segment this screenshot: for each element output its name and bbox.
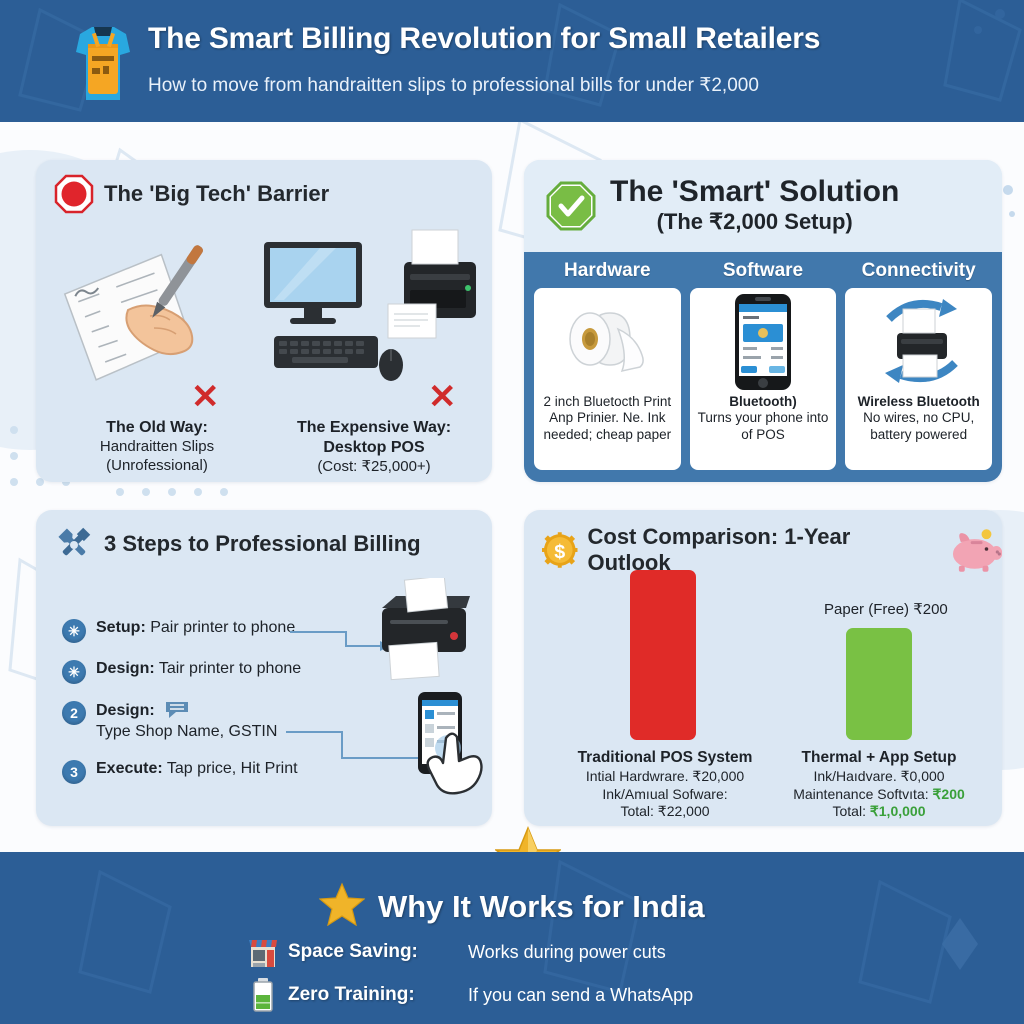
solution-col-head-1: Software: [690, 258, 837, 288]
wireless-printer-sync-icon: [859, 297, 979, 387]
solution-header: The 'Smart' Solution (The ₹2,000 Setup): [524, 160, 1002, 252]
page-subtitle: How to move from handraitten slips to pr…: [148, 74, 1008, 97]
barrier-caption-1-line1: Desktop POS: [266, 438, 482, 458]
card-three-steps: 3 Steps to Professional Billing ✳ Setup:…: [36, 510, 492, 826]
cost-name-0: Traditional POS System: [562, 748, 768, 767]
step-text-1: Design: Tair printer to phone: [96, 659, 301, 680]
solution-caption-software-text: Turns your phone into of POS: [698, 410, 829, 441]
bar-traditional-pos: [630, 570, 696, 740]
solution-column-hardware: Hardware 2 inch Bluetocth Print Anp Prin…: [534, 258, 681, 470]
page-title: The Smart Billing Revolution for Small R…: [148, 22, 978, 56]
footer-row-1: Zero Training: If you can send a WhatsAp…: [248, 978, 888, 1012]
solution-subtitle: (The ₹2,000 Setup): [610, 209, 899, 235]
footer-rows: Space Saving: Works during power cuts Ze…: [248, 936, 888, 1022]
page-footer: Why It Works for India Space Saving: Wor…: [0, 852, 1024, 1024]
step-value-0: Pair printer to phone: [150, 619, 295, 636]
solution-caption-connectivity: Wireless Bluetooth No wires, no CPU, bat…: [849, 394, 988, 443]
cost-line-1-2-label: Total:: [833, 803, 870, 819]
solution-col-head-2: Connectivity: [845, 258, 992, 288]
gold-star-icon: [319, 882, 365, 926]
barrier-caption-1-line2: (Cost: ₹25,000+): [266, 458, 482, 477]
step-sub-2: Type Shop Name, GSTIN: [96, 722, 277, 743]
wrench-screwdriver-icon: [54, 524, 94, 564]
shop-storefront-icon: [248, 936, 278, 968]
barrier-caption-0-line2: (Unrofessional): [54, 457, 260, 476]
apron-tshirt-icon: [70, 22, 136, 104]
solution-columns: Hardware 2 inch Bluetocth Print Anp Prin…: [524, 252, 1002, 482]
chart-annotation-paper: Paper (Free) ₹200: [824, 600, 948, 618]
card-big-tech-barrier: The 'Big Tech' Barrier: [36, 160, 492, 482]
step-label-1: Design:: [96, 660, 155, 677]
step-line-2: Design:: [96, 700, 277, 722]
barrier-title: The 'Big Tech' Barrier: [104, 181, 329, 207]
barrier-caption-1: The Expensive Way: Desktop POS (Cost: ₹2…: [266, 418, 482, 477]
solution-caption-software: Bluetooth) Turns your phone into of POS: [694, 394, 833, 443]
footer-value-1: If you can send a WhatsApp: [468, 985, 693, 1006]
cost-line-0-0: Intial Hardwrare. ₹20,000: [562, 768, 768, 786]
bluetooth-icon: ✳: [62, 619, 86, 643]
steps-title: 3 Steps to Professional Billing: [104, 531, 421, 557]
bar-thermal-app: [846, 628, 912, 740]
cost-line-1-1-label: Maintenance Softvıta:: [793, 786, 932, 802]
solution-col-head-0: Hardware: [534, 258, 681, 288]
step-text-2: Design: Type Shop Name, GSTIN: [96, 700, 277, 743]
step-label-2: Design:: [96, 702, 155, 719]
software-art: [733, 296, 793, 388]
steps-title-row: 3 Steps to Professional Billing: [54, 524, 421, 564]
cost-line-1-1: Maintenance Softvıta: ₹200: [774, 786, 984, 804]
footer-title: Why It Works for India: [0, 882, 1024, 926]
solution-box-software: Bluetooth) Turns your phone into of POS: [690, 288, 837, 470]
solution-column-connectivity: Connectivity: [845, 258, 992, 470]
hardware-art: [552, 296, 662, 388]
cost-line-1-2-value: ₹1,0,000: [870, 803, 926, 819]
footer-title-text: Why It Works for India: [378, 889, 705, 924]
footer-row-0: Space Saving: Works during power cuts: [248, 936, 888, 968]
solution-box-connectivity: Wireless Bluetooth No wires, no CPU, bat…: [845, 288, 992, 470]
cost-column-traditional: Traditional POS System Intial Hardwrare.…: [562, 748, 768, 821]
step-text-3: Execute: Tap price, Hit Print: [96, 759, 298, 780]
cost-line-0-2: Total: ₹22,000: [562, 803, 768, 821]
infographic-page: The Smart Billing Revolution for Small R…: [0, 0, 1024, 1024]
solution-caption-software-bold: Bluetooth): [729, 394, 796, 409]
cost-column-thermal: Thermal + App Setup Ink/Haıdvare. ₹0,000…: [774, 748, 984, 821]
smartphone-billing-app-icon: [733, 292, 793, 392]
bluetooth-icon: ✳: [62, 660, 86, 684]
phone-tap-hand-illustration: [402, 690, 492, 805]
solution-column-software: Software: [690, 258, 837, 470]
hand-writing-slip-illustration: [56, 238, 246, 393]
number-3-icon: 3: [62, 760, 86, 784]
page-header: The Smart Billing Revolution for Small R…: [0, 0, 1024, 122]
desktop-computer-printer-illustration: [260, 228, 482, 393]
step-value-3: Tap price, Hit Print: [167, 760, 298, 777]
green-check-octagon-icon: [546, 181, 596, 231]
stop-sign-icon: [54, 174, 94, 214]
footer-value-0: Works during power cuts: [468, 942, 666, 963]
barrier-caption-0-title: The Old Way:: [54, 418, 260, 438]
speech-bubble-icon: [164, 700, 190, 718]
cost-name-1: Thermal + App Setup: [774, 748, 984, 767]
cost-line-0-1: Ink/Amıual Sofware:: [562, 786, 768, 804]
barrier-title-row: The 'Big Tech' Barrier: [54, 174, 329, 214]
solution-caption-hardware: 2 inch Bluetocth Print Anp Prinier. Ne. …: [538, 394, 677, 443]
thermal-paper-roll-icon: [552, 299, 662, 385]
battery-icon: [248, 978, 278, 1012]
barrier-mark-1: ✕: [428, 380, 457, 414]
cost-line-1-0: Ink/Haıdvare. ₹0,000: [774, 768, 984, 786]
barrier-caption-0: The Old Way: Handraitten Slips (Unrofess…: [54, 418, 260, 476]
cost-line-1-2: Total: ₹1,0,000: [774, 803, 984, 821]
connectivity-art: [859, 296, 979, 388]
footer-label-1: Zero Training:: [288, 984, 458, 1006]
header-pattern: [0, 0, 1024, 122]
cost-chart: Paper (Free) ₹200 Traditional POS System…: [542, 562, 984, 810]
step-value-1: Tair printer to phone: [159, 660, 301, 677]
step-label-3: Execute:: [96, 760, 163, 777]
solution-caption-connectivity-text: No wires, no CPU, battery powered: [863, 410, 974, 441]
card-cost-comparison: $ Cost Comparison: 1-Year Outlook Pape: [524, 510, 1002, 826]
barrier-mark-0: ✕: [191, 380, 220, 414]
card-smart-solution: The 'Smart' Solution (The ₹2,000 Setup) …: [524, 160, 1002, 482]
step-label-0: Setup:: [96, 619, 146, 636]
cost-line-1-1-value: ₹200: [933, 786, 965, 802]
barrier-caption-0-line1: Handraitten Slips: [54, 438, 260, 457]
barrier-caption-1-title: The Expensive Way:: [266, 418, 482, 438]
solution-title: The 'Smart' Solution: [610, 177, 899, 208]
solution-caption-connectivity-bold: Wireless Bluetooth: [858, 394, 980, 409]
svg-text:$: $: [554, 541, 565, 563]
thermal-printer-illustration: [366, 578, 486, 683]
step-text-0: Setup: Pair printer to phone: [96, 618, 295, 639]
footer-label-0: Space Saving:: [288, 941, 458, 963]
solution-box-hardware: 2 inch Bluetocth Print Anp Prinier. Ne. …: [534, 288, 681, 470]
number-2-icon: 2: [62, 701, 86, 725]
